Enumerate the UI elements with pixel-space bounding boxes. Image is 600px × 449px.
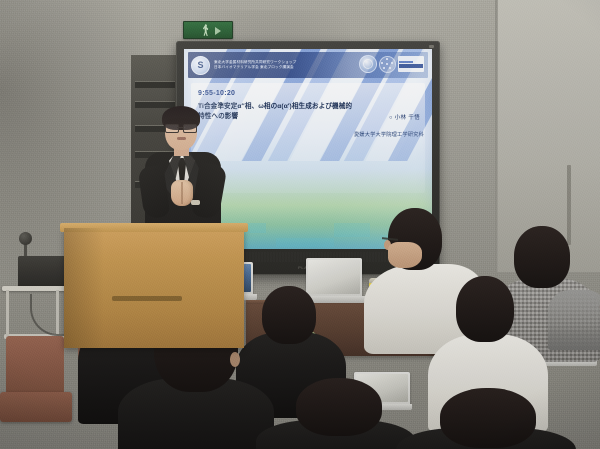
- institution-seal-icon: S: [191, 56, 210, 75]
- audience-member-front-right: [396, 388, 576, 449]
- presenter-wristwatch: [191, 200, 200, 205]
- presenter-hands: [171, 180, 193, 206]
- audience-member-front-center: [256, 378, 416, 449]
- exit-arrow-icon: [215, 27, 221, 35]
- sponsor-logo-icon: [398, 56, 424, 72]
- network-logo-icon: [379, 56, 396, 73]
- slide-title-line2: 特性への影響: [198, 112, 420, 122]
- seal-logo-icon: [359, 55, 377, 73]
- slide-title-line1: Ti合金準安定α″相、ω相のα(α′)相生成および機械的: [198, 102, 420, 112]
- wooden-lectern: [64, 228, 244, 348]
- presenter-mouth: [177, 137, 186, 140]
- slide-author: ○ 小林 千悟: [389, 113, 420, 121]
- chair-back-left: [6, 336, 64, 394]
- power-led-icon: [429, 45, 434, 48]
- presenter-glasses-icon: [165, 124, 197, 131]
- audience-member-far-right: [548, 250, 600, 340]
- slide-affiliation: 愛媛大学大学院理工学研究科: [354, 131, 424, 138]
- emergency-exit-sign: [183, 21, 233, 39]
- slide-sponsor-logos: [359, 55, 424, 73]
- running-person-icon: [202, 24, 210, 36]
- chair-seat-left: [0, 392, 72, 422]
- microphone-icon: [19, 232, 32, 245]
- presentation-room-photo: S 東北大学金属材料研究所共同研究ワークショップ 日本バイオマテリアル学会 東北…: [0, 0, 600, 449]
- slide-time-slot: 9:55-10:20: [198, 90, 420, 97]
